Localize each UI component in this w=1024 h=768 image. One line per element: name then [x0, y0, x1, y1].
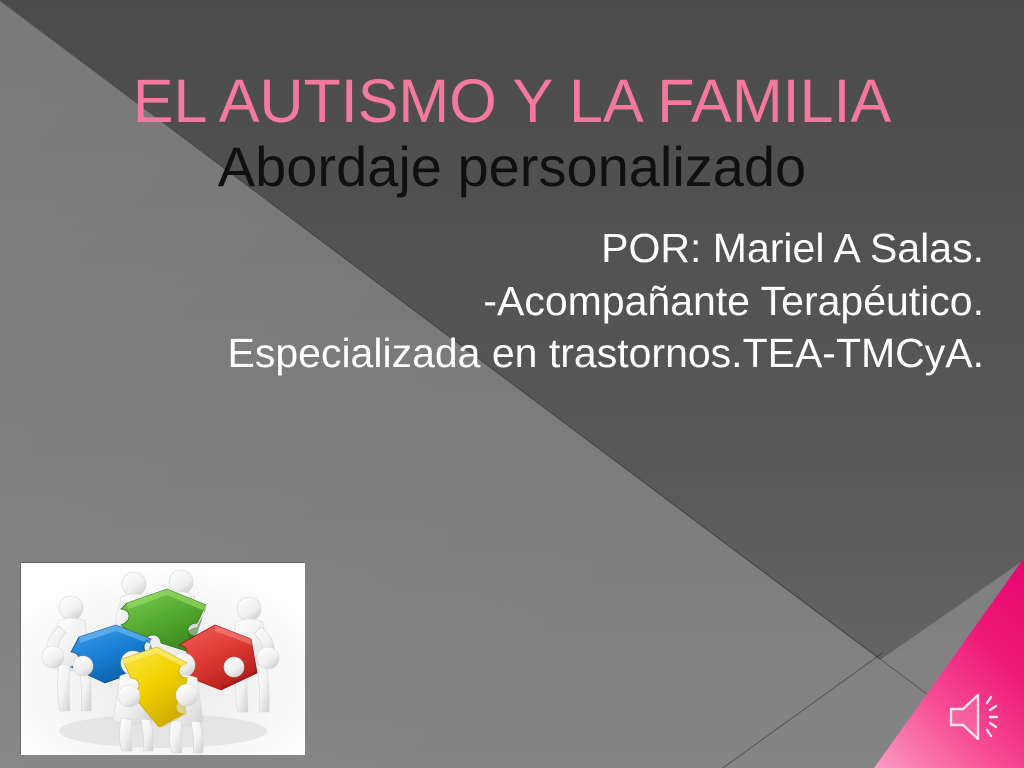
- byline-line-author: POR: Mariel A Salas.: [40, 222, 984, 274]
- byline-line-specialty: Especializada en trastornos.TEA-TMCyA.: [40, 327, 984, 379]
- speaker-audio-icon[interactable]: [946, 686, 1008, 748]
- presentation-slide: EL AUTISMO Y LA FAMILIA Abordaje persona…: [0, 0, 1024, 768]
- teamwork-puzzle-picture: [21, 563, 305, 755]
- figure-left-hand: [73, 656, 93, 676]
- slide-text-block: EL AUTISMO Y LA FAMILIA Abordaje persona…: [40, 70, 984, 380]
- slide-byline: POR: Mariel A Salas. -Acompañante Terapé…: [40, 222, 984, 379]
- byline-line-role: -Acompañante Terapéutico.: [40, 275, 984, 327]
- slide-title: EL AUTISMO Y LA FAMILIA: [40, 70, 984, 132]
- slide-subtitle: Abordaje personalizado: [40, 138, 984, 196]
- figure-right-hand: [224, 657, 244, 677]
